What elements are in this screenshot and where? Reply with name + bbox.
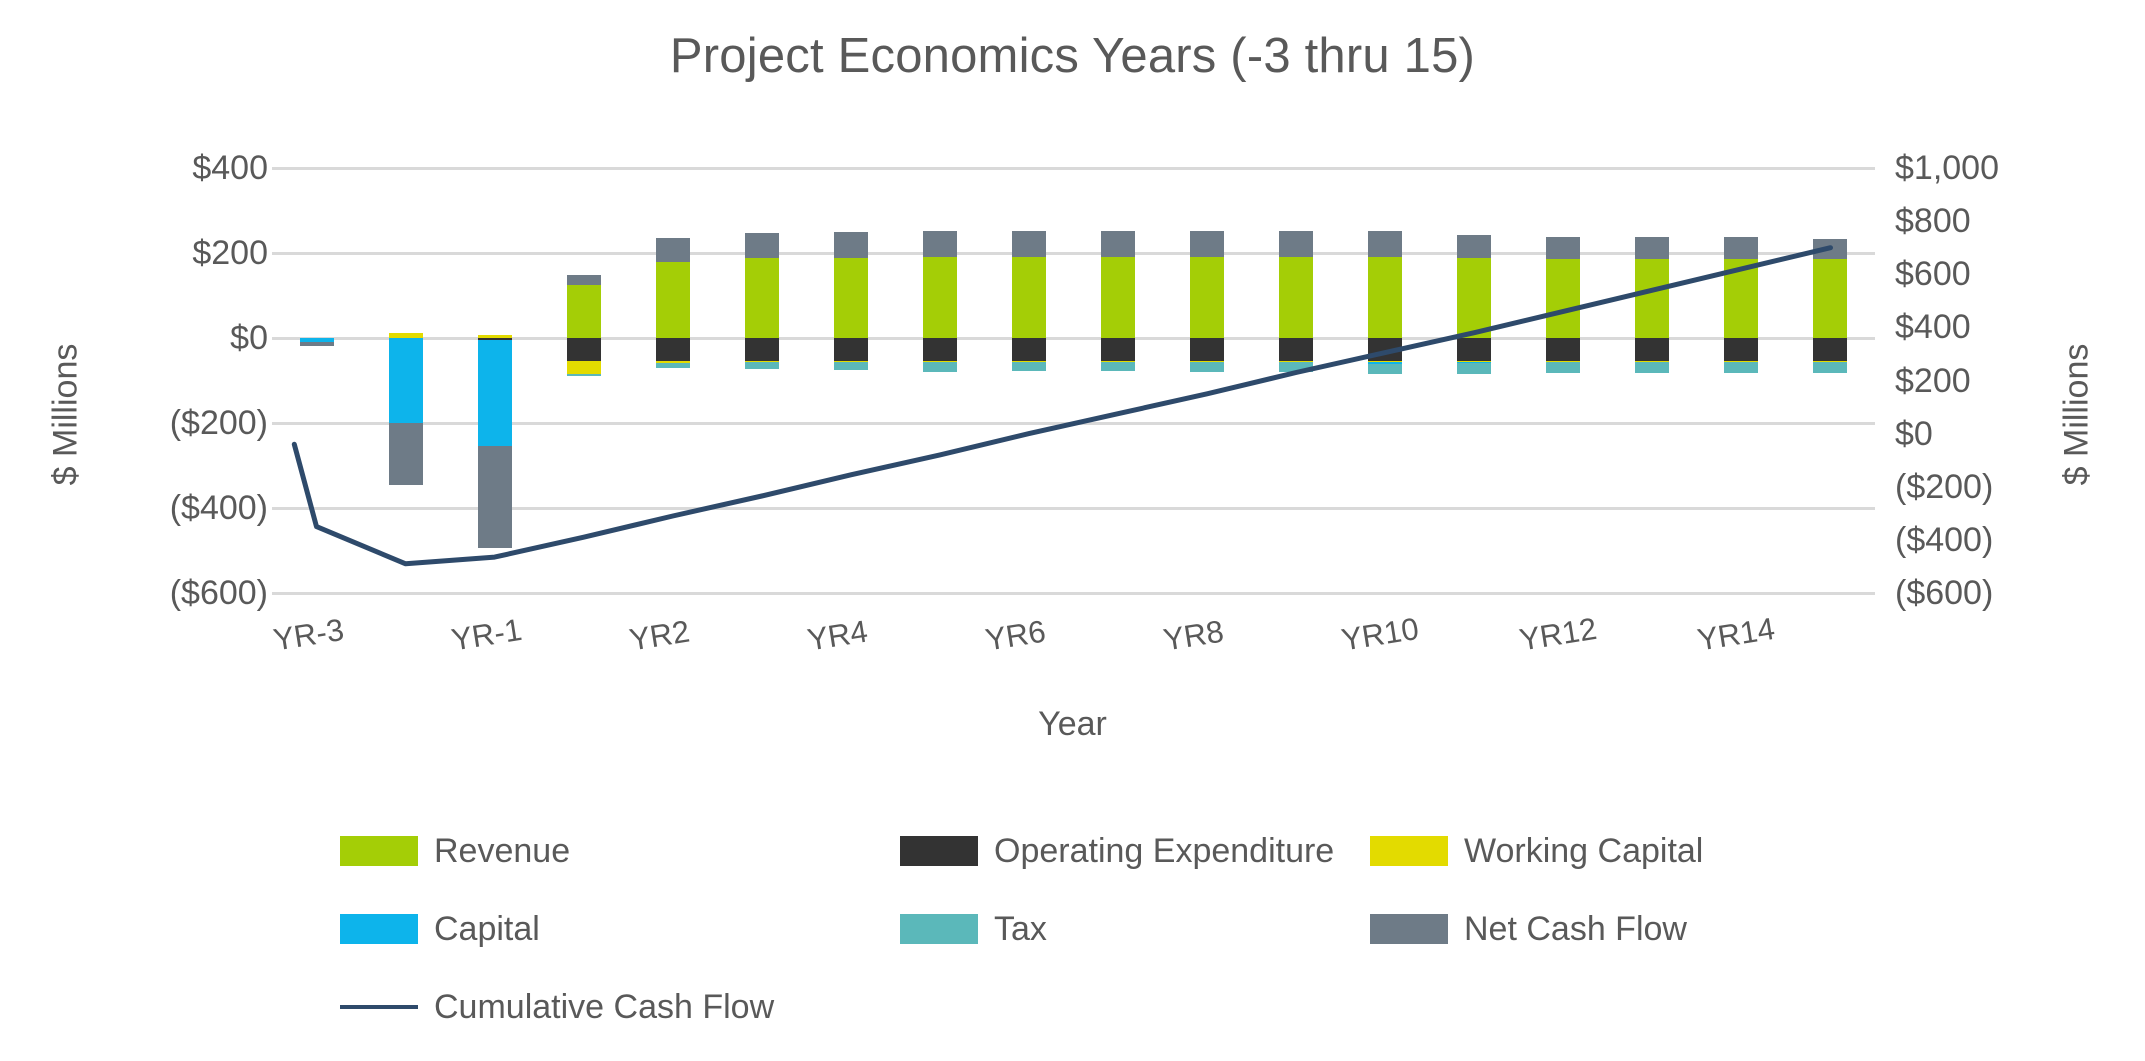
x-tick-label: YR14 <box>1695 611 1777 659</box>
left-tick-label: $400 <box>98 148 268 188</box>
left-tick-label: ($600) <box>98 573 268 613</box>
legend-item-label: Net Cash Flow <box>1464 910 1687 949</box>
right-tick-label: $400 <box>1895 307 1971 347</box>
legend-item-label: Working Capital <box>1464 832 1703 871</box>
legend-item[interactable]: Cumulative Cash Flow <box>340 976 774 1038</box>
x-tick-label: YR8 <box>1161 614 1226 659</box>
legend-color-swatch <box>900 836 978 866</box>
cumulative-cash-flow-polyline <box>294 248 1830 564</box>
legend-color-swatch <box>900 914 978 944</box>
x-tick-label: YR-3 <box>271 612 346 659</box>
chart-legend: RevenueOperating ExpenditureWorking Capi… <box>0 820 2145 1020</box>
legend-color-swatch <box>340 836 418 866</box>
legend-item-label: Cumulative Cash Flow <box>434 988 774 1027</box>
legend-item-label: Revenue <box>434 832 570 871</box>
legend-color-swatch <box>1370 836 1448 866</box>
x-tick-label: YR6 <box>983 614 1048 659</box>
right-tick-label: ($200) <box>1895 467 1993 507</box>
x-tick-label: YR-1 <box>449 612 524 659</box>
right-tick-label: $0 <box>1895 414 1933 454</box>
legend-item[interactable]: Tax <box>900 898 1047 960</box>
legend-item[interactable]: Working Capital <box>1370 820 1703 882</box>
legend-color-swatch <box>340 914 418 944</box>
legend-item[interactable]: Capital <box>340 898 540 960</box>
right-tick-label: $1,000 <box>1895 148 1999 188</box>
plot-area <box>272 168 1875 593</box>
x-tick-label: YR10 <box>1339 611 1421 659</box>
cumulative-cash-flow-line <box>272 168 1875 593</box>
legend-item[interactable]: Operating Expenditure <box>900 820 1334 882</box>
x-tick-label: YR12 <box>1517 611 1599 659</box>
right-tick-label: ($400) <box>1895 520 1993 560</box>
right-tick-label: ($600) <box>1895 573 1993 613</box>
legend-item-label: Tax <box>994 910 1047 949</box>
right-tick-label: $200 <box>1895 361 1971 401</box>
left-tick-label: ($400) <box>98 488 268 528</box>
legend-item-label: Capital <box>434 910 540 949</box>
chart-title: Project Economics Years (-3 thru 15) <box>0 28 2145 84</box>
x-tick-label: YR4 <box>805 614 870 659</box>
x-tick-label: YR2 <box>627 614 692 659</box>
left-tick-label: $0 <box>98 318 268 358</box>
legend-item-label: Operating Expenditure <box>994 832 1334 871</box>
legend-item[interactable]: Net Cash Flow <box>1370 898 1687 960</box>
chart-canvas: Project Economics Years (-3 thru 15) $ M… <box>0 0 2145 1061</box>
legend-color-swatch <box>1370 914 1448 944</box>
right-tick-label: $800 <box>1895 201 1971 241</box>
legend-item[interactable]: Revenue <box>340 820 570 882</box>
x-axis-title: Year <box>0 705 2145 744</box>
legend-line-marker <box>340 1005 418 1009</box>
right-tick-label: $600 <box>1895 254 1971 294</box>
left-tick-label: ($200) <box>98 403 268 443</box>
left-axis-title: $ Millions <box>47 285 86 545</box>
left-tick-label: $200 <box>98 233 268 273</box>
